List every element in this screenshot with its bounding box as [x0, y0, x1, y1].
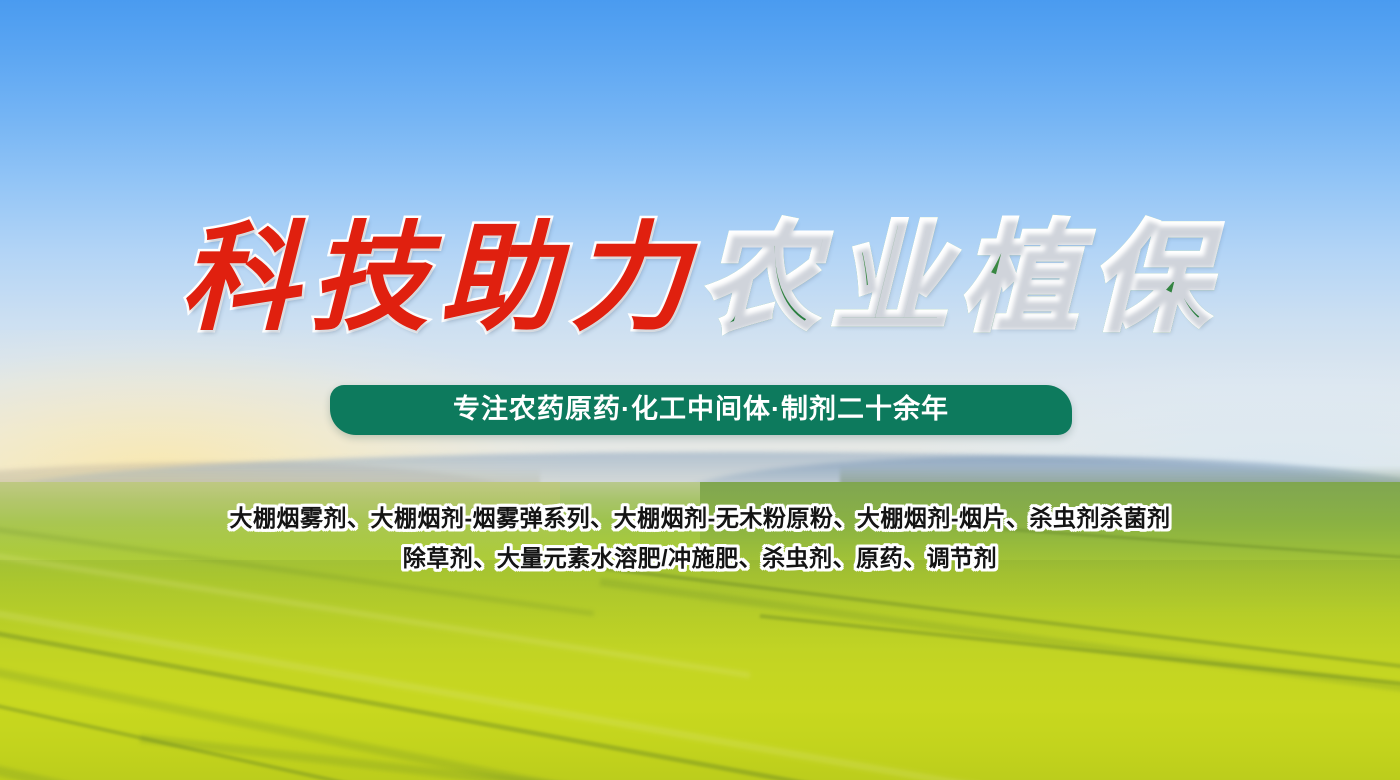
subtitle-badge: 专注农药原药·化工中间体·制剂二十余年	[330, 385, 1072, 435]
product-line-1: 大棚烟雾剂、大棚烟剂-烟雾弹系列、大棚烟剂-无木粉原粉、大棚烟剂-烟片、杀虫剂杀…	[0, 498, 1400, 538]
promo-banner: 科技助力农业植保 专注农药原药·化工中间体·制剂二十余年 大棚烟雾剂、大棚烟剂-…	[0, 0, 1400, 780]
page-title: 科技助力农业植保	[0, 214, 1400, 342]
subtitle-text: 专注农药原药·化工中间体·制剂二十余年	[453, 396, 949, 425]
headline-green-part: 农业植保	[700, 214, 1220, 342]
product-list: 大棚烟雾剂、大棚烟剂-烟雾弹系列、大棚烟剂-无木粉原粉、大棚烟剂-烟片、杀虫剂杀…	[0, 498, 1400, 578]
product-line-2: 除草剂、大量元素水溶肥/冲施肥、杀虫剂、原药、调节剂	[0, 538, 1400, 578]
headline-red-part: 科技助力	[180, 214, 700, 342]
